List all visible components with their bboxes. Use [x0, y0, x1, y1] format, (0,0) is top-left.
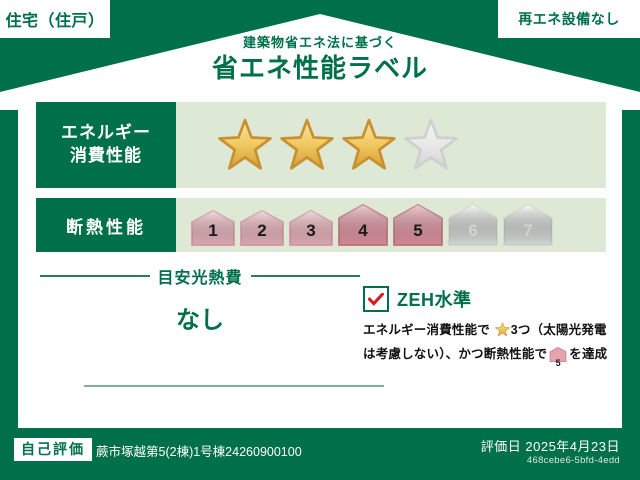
self-evaluation-badge: 自己評価 — [14, 438, 92, 461]
star-rating — [176, 118, 458, 172]
zeh-desc-part1: エネルギー消費性能で — [363, 323, 490, 337]
heading-rule-left — [40, 275, 150, 277]
utility-cost-label: 目安光熱費 — [158, 264, 243, 288]
insulation-level-4: 4 — [337, 204, 389, 246]
building-type-tag: 住宅（住戸） — [0, 0, 110, 38]
insulation-key-label: 断熱性能 — [66, 213, 146, 238]
zeh-heading: ZEH水準 — [363, 286, 613, 312]
insulation-level-3: 3 — [288, 210, 334, 246]
insulation-level-label: 5 — [392, 221, 444, 241]
insulation-level-2: 2 — [239, 210, 285, 246]
evaluation-date: 評価日 2025年4月23日 — [481, 436, 620, 455]
insulation-performance-value: 1234567 — [176, 204, 606, 246]
house-icon-label: 5 — [549, 359, 567, 368]
renewable-energy-label: 再エネ設備なし — [518, 9, 620, 29]
insulation-level-label: 4 — [337, 221, 389, 241]
zeh-title: ZEH水準 — [397, 286, 472, 312]
property-name: 蕨市塚越第5(2棟)1号棟24260900100 — [96, 441, 302, 460]
star-filled-icon — [218, 118, 272, 172]
star-icon — [491, 326, 510, 340]
insulation-performance-key: 断熱性能 — [36, 198, 176, 252]
insulation-performance-row: 断熱性能 1234567 — [36, 198, 606, 252]
utility-cost-heading: 目安光熱費 — [40, 264, 360, 288]
building-type-label: 住宅（住戸） — [5, 7, 104, 31]
zeh-description: エネルギー消費性能で 3つ（太陽光発電は考慮しない）、かつ断熱性能で — [363, 320, 613, 368]
insulation-level-label: 2 — [239, 221, 285, 241]
house-icon: 5 — [549, 347, 567, 369]
insulation-level-label: 7 — [502, 221, 554, 241]
insulation-level-7: 7 — [502, 204, 554, 246]
insulation-scale: 1234567 — [176, 204, 554, 246]
energy-key-line2: 消費性能 — [70, 145, 142, 168]
energy-label-root: 住宅（住戸） 再エネ設備なし 建築物省エネ法に基づく 省エネ性能ラベル エネルギ… — [0, 0, 640, 480]
label-card: エネルギー 消費性能 断熱性能 1234567 目安光熱費 なし — [18, 88, 622, 428]
insulation-level-5: 5 — [392, 204, 444, 246]
star-filled-icon — [342, 118, 396, 172]
energy-performance-value — [176, 118, 606, 172]
zeh-desc-part3: は考慮しない）、かつ断熱性能で — [363, 347, 547, 361]
heading-rule-right — [251, 275, 361, 277]
energy-performance-key: エネルギー 消費性能 — [36, 102, 176, 188]
check-icon — [363, 286, 389, 312]
insulation-level-label: 1 — [190, 221, 236, 241]
zeh-desc-part4: を達成 — [569, 347, 607, 361]
utility-cost-underline — [84, 385, 384, 387]
insulation-level-1: 1 — [190, 210, 236, 246]
zeh-block: ZEH水準 エネルギー消費性能で 3つ（太陽光発電は考慮しない）、かつ断熱性能で — [363, 286, 613, 368]
renewable-energy-tag: 再エネ設備なし — [498, 0, 640, 38]
label-footer: 自己評価 蕨市塚越第5(2棟)1号棟24260900100 評価日 2025年4… — [0, 428, 640, 480]
evaluation-id: 468cebe6-5bfd-4edd — [527, 455, 620, 466]
energy-performance-row: エネルギー 消費性能 — [36, 102, 606, 188]
insulation-level-label: 3 — [288, 221, 334, 241]
energy-key-line1: エネルギー — [61, 122, 151, 145]
utility-cost-value: なし — [40, 300, 360, 335]
insulation-level-6: 6 — [447, 204, 499, 246]
star-empty-icon — [404, 118, 458, 172]
insulation-level-label: 6 — [447, 221, 499, 241]
star-filled-icon — [280, 118, 334, 172]
zeh-desc-part2: 3つ（太陽光発電 — [511, 323, 607, 337]
